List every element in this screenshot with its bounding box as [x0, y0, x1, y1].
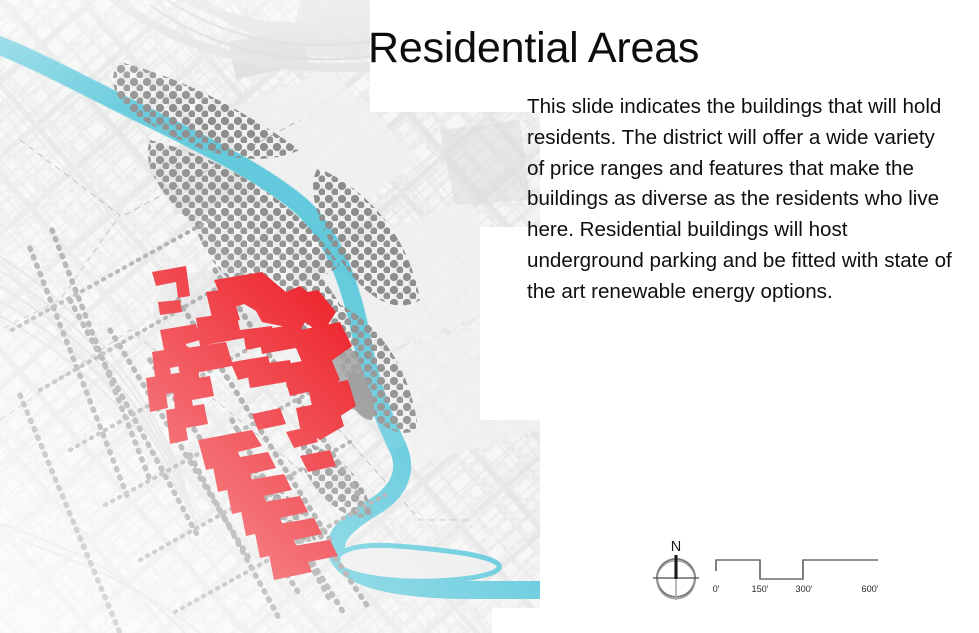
slide-canvas: Residential Areas This slide indicates t… — [0, 0, 979, 633]
panel-mask-strip — [492, 608, 979, 633]
scale-tick-0: 0' — [713, 584, 720, 594]
slide-title: Residential Areas — [368, 26, 699, 71]
map-legend: 0' 150' 300' 600' N — [648, 534, 878, 606]
scale-tick-300: 300' — [795, 584, 812, 594]
scale-tick-150: 150' — [751, 584, 768, 594]
slide-body-text: This slide indicates the buildings that … — [527, 92, 952, 308]
compass-north-label: N — [671, 539, 681, 555]
compass-rose-icon — [653, 555, 699, 600]
scale-tick-600: 600' — [861, 584, 878, 594]
scale-bar-graphic — [716, 560, 878, 579]
